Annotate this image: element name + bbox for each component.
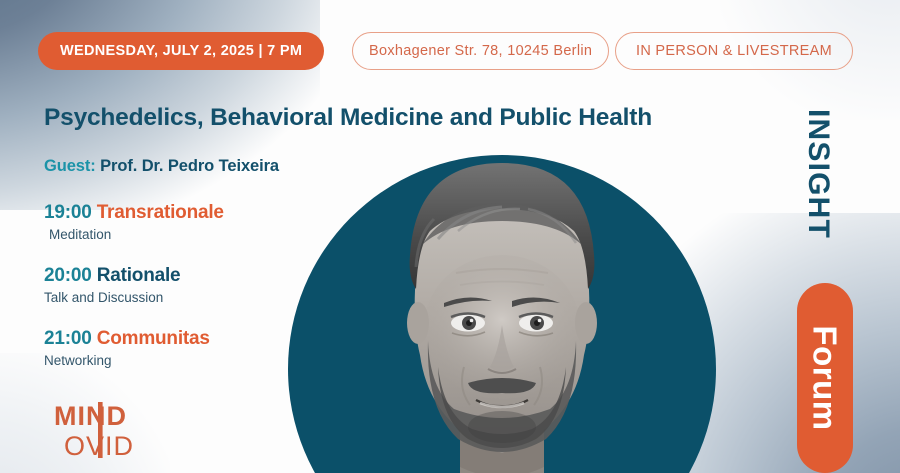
schedule-item-1: 19:00 Transrationale Meditation	[44, 202, 294, 243]
schedule-subtitle: Networking	[44, 353, 294, 369]
address-pill: Boxhagener Str. 78, 10245 Berlin	[352, 32, 609, 70]
guest-label: Guest:	[44, 157, 96, 175]
forum-text: Forum	[806, 325, 844, 430]
schedule-heading: 19:00 Transrationale	[44, 202, 294, 224]
schedule-time: 19:00	[44, 202, 92, 223]
insight-text: INSIGHT	[801, 109, 835, 239]
portrait-photo	[288, 127, 716, 473]
schedule-subtitle: Meditation	[44, 227, 294, 243]
guest-name: Prof. Dr. Pedro Teixeira	[100, 157, 279, 175]
schedule-item-3: 21:00 Communitas Networking	[44, 328, 294, 369]
schedule-heading: 21:00 Communitas	[44, 328, 294, 350]
guest-line: Guest: Prof. Dr. Pedro Teixeira	[44, 157, 279, 176]
schedule-time: 20:00	[44, 265, 92, 286]
schedule-list: 19:00 Transrationale Meditation 20:00 Ra…	[44, 202, 294, 392]
schedule-item-2: 20:00 Rationale Talk and Discussion	[44, 265, 294, 306]
event-poster: WEDNESDAY, JULY 2, 2025 | 7 PM Boxhagene…	[0, 0, 900, 473]
mindovid-logo: MIND OVID	[52, 398, 182, 462]
speaker-portrait	[288, 155, 716, 473]
schedule-subtitle: Talk and Discussion	[44, 290, 294, 306]
schedule-heading: 20:00 Rationale	[44, 265, 294, 287]
format-pill: IN PERSON & LIVESTREAM	[615, 32, 853, 70]
schedule-time: 21:00	[44, 328, 92, 349]
logo-divider-bar	[98, 402, 103, 458]
schedule-title: Communitas	[97, 328, 210, 349]
date-pill: WEDNESDAY, JULY 2, 2025 | 7 PM	[38, 32, 324, 70]
page-title: Psychedelics, Behavioral Medicine and Pu…	[44, 104, 652, 132]
schedule-title: Rationale	[97, 265, 181, 286]
logo-line-top: MIND	[54, 401, 127, 431]
forum-pill: Forum	[797, 283, 853, 473]
schedule-title: Transrationale	[97, 202, 224, 223]
insight-wordmark: INSIGHT	[795, 88, 841, 260]
